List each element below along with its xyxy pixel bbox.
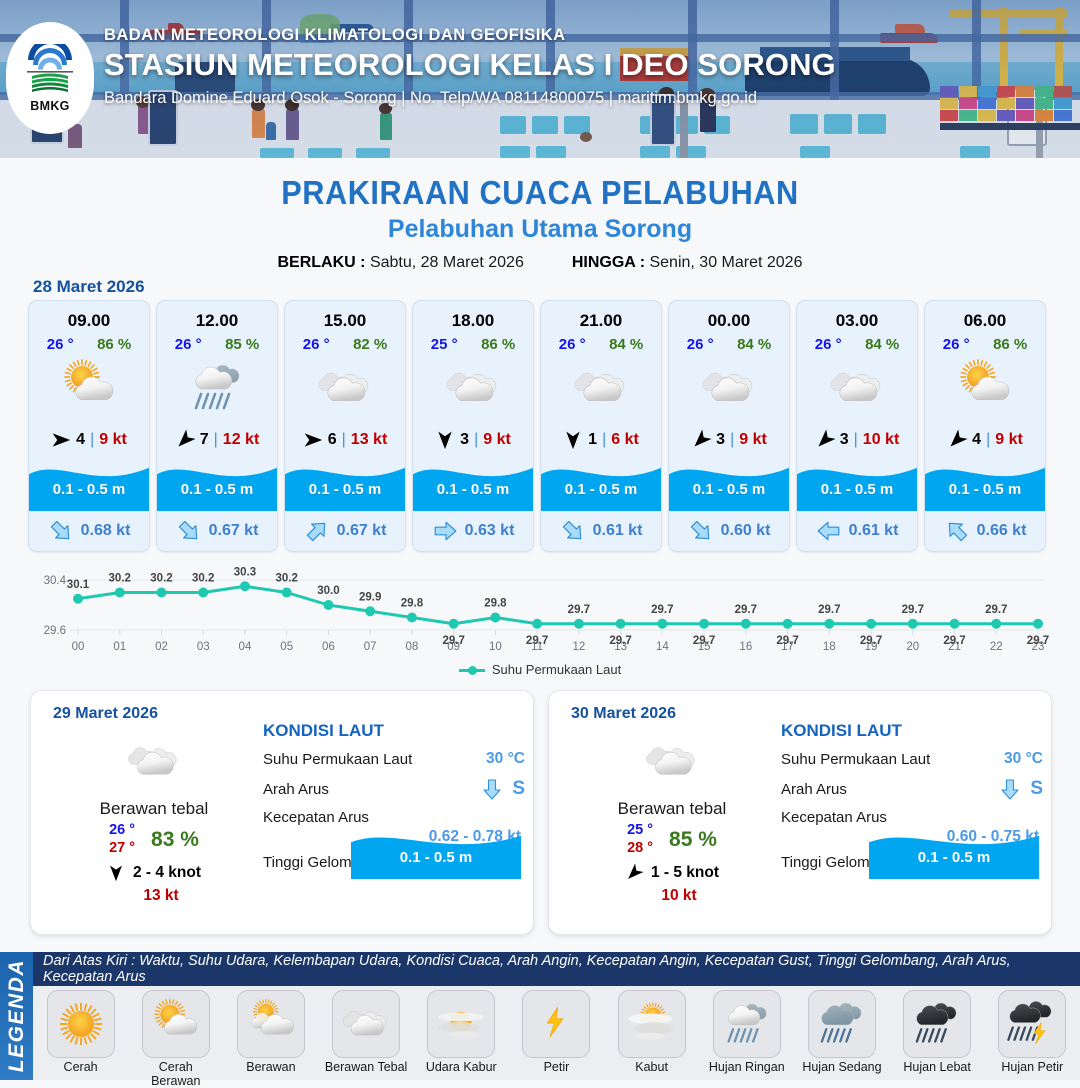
- card-wave: 0.1 - 0.5 m: [413, 457, 533, 511]
- svg-text:16: 16: [739, 641, 752, 653]
- svg-text:29.7: 29.7: [943, 635, 965, 647]
- card-temperature: 26 °: [943, 336, 970, 353]
- panel-current-dir-value: S: [1030, 778, 1043, 800]
- forecast-card[interactable]: 15.00 26 ° 82 % 6 | 13 kt: [284, 300, 406, 552]
- panel-weather-block: Berawan tebal 26 ° 27 ° 83 % 2 - 4 knot …: [47, 733, 261, 905]
- panel-current-dir-value: S: [512, 778, 525, 800]
- panel-sst-value: 30 °C: [1004, 750, 1043, 768]
- card-humidity: 85 %: [225, 336, 259, 353]
- panel-temp-max: 27 °: [109, 840, 135, 858]
- weather-icon-hujan-lebat: [909, 996, 965, 1052]
- weather-icon-petir: [528, 996, 584, 1052]
- card-time: 15.00: [285, 301, 405, 331]
- card-gust: 10 kt: [863, 431, 899, 449]
- current-direction-arrow: [682, 513, 719, 550]
- svg-text:29.7: 29.7: [568, 604, 590, 616]
- panel-current-speed-label: Kecepatan Arus: [781, 809, 1043, 826]
- card-wind-speed: 3: [460, 431, 469, 449]
- contact-info: Bandara Domine Eduard Osok - Sorong | No…: [104, 89, 1064, 108]
- card-current: 0.66 kt: [925, 511, 1045, 551]
- svg-text:29.8: 29.8: [401, 598, 424, 610]
- card-wind: 1 | 6 kt: [541, 423, 661, 457]
- panel-temp-max: 28 °: [627, 840, 653, 858]
- weather-icon-udara-kabur: [433, 996, 489, 1052]
- panel-wind: 2 - 4 knot: [47, 864, 261, 882]
- legend-item-icon: [237, 990, 305, 1058]
- card-wind-separator: |: [474, 431, 478, 449]
- legend-item-label: Udara Kabur: [419, 1060, 503, 1074]
- weather-icon-berawan-tebal: [697, 356, 761, 420]
- svg-text:06: 06: [322, 641, 335, 653]
- legend-item-label: Petir: [514, 1060, 598, 1074]
- card-wind-speed: 3: [840, 431, 849, 449]
- panel-temp-hum: 26 ° 27 ° 83 %: [47, 822, 261, 857]
- bmkg-logo: BMKG: [6, 22, 94, 134]
- wind-direction-arrow: [171, 426, 199, 454]
- panel-sst-row: Suhu Permukaan Laut 30 °C: [781, 750, 1043, 768]
- card-wind-speed: 7: [200, 431, 209, 449]
- page-title: PRAKIRAAN CUACA PELABUHAN: [38, 174, 1042, 212]
- legend-item: Kabut: [610, 990, 694, 1074]
- card-temp-humidity: 25 ° 86 %: [413, 331, 533, 353]
- card-wind: 6 | 13 kt: [285, 423, 405, 457]
- forecast-card[interactable]: 21.00 26 ° 84 % 1 | 6 kt: [540, 300, 662, 552]
- card-wave: 0.1 - 0.5 m: [285, 457, 405, 511]
- panel-current-dir-value-wrap: S: [998, 777, 1043, 801]
- panel-wind-range: 1 - 5 knot: [651, 864, 719, 882]
- forecast-card[interactable]: 18.00 25 ° 86 % 3 | 9 kt: [412, 300, 534, 552]
- card-gust: 6 kt: [611, 431, 639, 449]
- card-humidity: 84 %: [609, 336, 643, 353]
- legend-item-icon: [618, 990, 686, 1058]
- panel-gust: 10 kt: [565, 887, 779, 905]
- card-weather-icon: [925, 353, 1045, 423]
- card-wave: 0.1 - 0.5 m: [669, 457, 789, 511]
- card-wave-height: 0.1 - 0.5 m: [669, 481, 789, 498]
- panel-current-dir-label: Arah Arus: [781, 781, 847, 798]
- card-time: 03.00: [797, 301, 917, 331]
- weather-icon-cerah: [53, 996, 109, 1052]
- panel-wind: 1 - 5 knot: [565, 864, 779, 882]
- card-time: 18.00: [413, 301, 533, 331]
- card-wind-separator: |: [986, 431, 990, 449]
- panel-sst-value: 30 °C: [486, 750, 525, 768]
- legend-item-icon: [998, 990, 1066, 1058]
- card-wind-speed: 3: [716, 431, 725, 449]
- wind-direction-arrow: [563, 430, 583, 450]
- valid-to: HINGGA : Senin, 30 Maret 2026: [572, 254, 803, 272]
- current-direction-arrow: [42, 513, 79, 550]
- card-gust: 12 kt: [223, 431, 259, 449]
- card-wind: 3 | 9 kt: [669, 423, 789, 457]
- card-current-speed: 0.63 kt: [465, 522, 515, 540]
- card-current: 0.67 kt: [157, 511, 277, 551]
- svg-text:29.7: 29.7: [818, 604, 840, 616]
- panel-condition: Berawan tebal: [47, 799, 261, 819]
- weather-icon-hujan-sedang: [814, 996, 870, 1052]
- card-weather-icon: [157, 353, 277, 423]
- card-temperature: 26 °: [687, 336, 714, 353]
- card-current-speed: 0.60 kt: [721, 522, 771, 540]
- svg-text:29.6: 29.6: [44, 625, 66, 637]
- card-humidity: 84 %: [737, 336, 771, 353]
- card-wave-height: 0.1 - 0.5 m: [413, 481, 533, 498]
- card-wave: 0.1 - 0.5 m: [29, 457, 149, 511]
- card-wind-separator: |: [602, 431, 606, 449]
- card-humidity: 86 %: [481, 336, 515, 353]
- panel-current-dir-label: Arah Arus: [263, 781, 329, 798]
- card-temperature: 26 °: [559, 336, 586, 353]
- card-time: 12.00: [157, 301, 277, 331]
- weather-icon-cerah-berawan: [57, 356, 121, 420]
- card-current: 0.68 kt: [29, 511, 149, 551]
- svg-text:30.2: 30.2: [276, 573, 298, 585]
- card-wave-height: 0.1 - 0.5 m: [157, 481, 277, 498]
- daily-summary-panels: 29 Maret 2026 Berawan tebal 26 ° 27 ° 8: [30, 690, 1052, 935]
- card-wind: 4 | 9 kt: [29, 423, 149, 457]
- svg-text:29.7: 29.7: [651, 604, 673, 616]
- legend-item-label: Hujan Petir: [990, 1060, 1074, 1074]
- weather-icon-berawan-tebal: [641, 731, 703, 793]
- panel-date: 30 Maret 2026: [571, 705, 676, 723]
- weather-icon-berawan-tebal: [825, 356, 889, 420]
- card-temperature: 26 °: [175, 336, 202, 353]
- card-current-speed: 0.66 kt: [977, 522, 1027, 540]
- forecast-card[interactable]: 12.00 26 ° 85 % 7 | 12 kt: [156, 300, 278, 552]
- wind-direction-arrow: [943, 426, 971, 454]
- svg-text:29.7: 29.7: [442, 635, 464, 647]
- card-wave: 0.1 - 0.5 m: [925, 457, 1045, 511]
- card-wind-speed: 4: [76, 431, 85, 449]
- legend-item-icon: [713, 990, 781, 1058]
- card-current-speed: 0.67 kt: [337, 522, 387, 540]
- panel-current-dir-value-wrap: S: [480, 777, 525, 801]
- chart-legend-label: Suhu Permukaan Laut: [492, 662, 621, 677]
- legend-item: Petir: [514, 990, 598, 1074]
- card-temp-humidity: 26 ° 85 %: [157, 331, 277, 353]
- weather-icon-berawan-tebal: [123, 731, 185, 793]
- svg-text:07: 07: [364, 641, 377, 653]
- card-gust: 9 kt: [739, 431, 767, 449]
- valid-from-label: BERLAKU :: [278, 254, 366, 271]
- weather-icon-berawan-tebal: [338, 996, 394, 1052]
- legend-item: Cerah Berawan: [134, 990, 218, 1088]
- card-wind-speed: 6: [328, 431, 337, 449]
- card-wave: 0.1 - 0.5 m: [157, 457, 277, 511]
- card-temp-humidity: 26 ° 86 %: [29, 331, 149, 353]
- card-weather-icon: [29, 353, 149, 423]
- card-current-speed: 0.67 kt: [209, 522, 259, 540]
- card-wave-height: 0.1 - 0.5 m: [925, 481, 1045, 498]
- card-wave-height: 0.1 - 0.5 m: [541, 481, 661, 498]
- legend-item-icon: [808, 990, 876, 1058]
- panel-wave: 0.1 - 0.5 m: [869, 825, 1039, 877]
- svg-text:30.1: 30.1: [67, 579, 90, 591]
- card-temp-humidity: 26 ° 84 %: [541, 331, 661, 353]
- panel-weather-icon: [565, 733, 779, 791]
- panel-weather-icon: [47, 733, 261, 791]
- svg-text:29.7: 29.7: [609, 635, 631, 647]
- current-direction-arrow: [816, 518, 842, 544]
- svg-text:01: 01: [113, 641, 126, 653]
- card-temp-humidity: 26 ° 82 %: [285, 331, 405, 353]
- weather-icon-berawan-tebal: [313, 356, 377, 420]
- panel-temp-min: 25 °: [627, 822, 653, 840]
- svg-text:29.7: 29.7: [735, 604, 757, 616]
- card-weather-icon: [797, 353, 917, 423]
- legend-item: Hujan Lebat: [895, 990, 979, 1074]
- svg-text:03: 03: [197, 641, 210, 653]
- panel-current-dir-row: Arah Arus S: [263, 777, 525, 801]
- card-time: 06.00: [925, 301, 1045, 331]
- legend-item: Hujan Sedang: [800, 990, 884, 1074]
- card-wind-speed: 1: [588, 431, 597, 449]
- svg-text:02: 02: [155, 641, 168, 653]
- card-current: 0.63 kt: [413, 511, 533, 551]
- panel-date: 29 Maret 2026: [53, 705, 158, 723]
- panel-temp-hum: 25 ° 28 ° 85 %: [565, 822, 779, 857]
- svg-text:20: 20: [906, 641, 919, 653]
- card-wind: 7 | 12 kt: [157, 423, 277, 457]
- panel-sst-label: Suhu Permukaan Laut: [263, 751, 412, 768]
- legend-item-label: Kabut: [610, 1060, 694, 1074]
- legend-item-label: Berawan Tebal: [324, 1060, 408, 1074]
- legend-item: Udara Kabur: [419, 990, 503, 1074]
- card-temp-humidity: 26 ° 86 %: [925, 331, 1045, 353]
- svg-text:00: 00: [72, 641, 85, 653]
- card-time: 21.00: [541, 301, 661, 331]
- bmkg-logo-mark: [22, 44, 78, 96]
- panel-humidity: 85 %: [669, 828, 717, 852]
- forecast-card[interactable]: 00.00 26 ° 84 % 3 | 9 kt: [668, 300, 790, 552]
- weather-icon-cerah-berawan: [953, 356, 1017, 420]
- svg-text:29.7: 29.7: [860, 635, 882, 647]
- legend-item-label: Cerah: [39, 1060, 123, 1074]
- card-wind-separator: |: [214, 431, 218, 449]
- panel-humidity: 83 %: [151, 828, 199, 852]
- legend-item-label: Hujan Sedang: [800, 1060, 884, 1074]
- wind-direction-arrow: [107, 864, 125, 882]
- forecast-card[interactable]: 06.00 26 ° 86 % 4 | 9 kt 0.1 -: [924, 300, 1046, 552]
- svg-text:29.7: 29.7: [776, 635, 798, 647]
- card-temp-humidity: 26 ° 84 %: [669, 331, 789, 353]
- current-direction-arrow: [998, 777, 1022, 801]
- weather-icon-berawan: [243, 996, 299, 1052]
- forecast-card[interactable]: 09.00 26 ° 86 % 4 | 9 kt 0.1 -: [28, 300, 150, 552]
- svg-text:30.3: 30.3: [234, 566, 256, 578]
- panel-current-speed-label: Kecepatan Arus: [263, 809, 525, 826]
- forecast-date-label: 28 Maret 2026: [33, 277, 145, 297]
- legend-item-icon: [332, 990, 400, 1058]
- card-time: 00.00: [669, 301, 789, 331]
- card-current: 0.67 kt: [285, 511, 405, 551]
- daily-summary-panel: 29 Maret 2026 Berawan tebal 26 ° 27 ° 8: [30, 690, 534, 935]
- card-weather-icon: [413, 353, 533, 423]
- card-humidity: 86 %: [993, 336, 1027, 353]
- legend-item: Berawan Tebal: [324, 990, 408, 1074]
- svg-text:30.2: 30.2: [109, 573, 131, 585]
- panel-sst-label: Suhu Permukaan Laut: [781, 751, 930, 768]
- card-wind-separator: |: [854, 431, 858, 449]
- card-current-speed: 0.68 kt: [81, 522, 131, 540]
- card-humidity: 86 %: [97, 336, 131, 353]
- svg-text:12: 12: [572, 641, 585, 653]
- svg-text:10: 10: [489, 641, 502, 653]
- svg-text:29.7: 29.7: [526, 635, 548, 647]
- agency-name: BADAN METEOROLOGI KLIMATOLOGI DAN GEOFIS…: [104, 26, 1064, 45]
- legend-item: Hujan Petir: [990, 990, 1074, 1074]
- svg-text:05: 05: [280, 641, 293, 653]
- svg-text:30.0: 30.0: [317, 585, 339, 597]
- svg-text:14: 14: [656, 641, 669, 653]
- card-wave-height: 0.1 - 0.5 m: [285, 481, 405, 498]
- station-name: STASIUN METEOROLOGI KELAS I DEO SORONG: [104, 47, 1064, 83]
- title-block: PRAKIRAAN CUACA PELABUHAN Pelabuhan Utam…: [0, 174, 1080, 272]
- logo-label: BMKG: [30, 99, 69, 113]
- weather-icon-berawan-tebal: [569, 356, 633, 420]
- card-humidity: 84 %: [865, 336, 899, 353]
- daily-summary-panel: 30 Maret 2026 Berawan tebal 25 ° 28 ° 8: [548, 690, 1052, 935]
- card-gust: 13 kt: [351, 431, 387, 449]
- legend-item-icon: [427, 990, 495, 1058]
- legend-item: Berawan: [229, 990, 313, 1074]
- svg-text:30.2: 30.2: [192, 573, 214, 585]
- forecast-card[interactable]: 03.00 26 ° 84 % 3 | 10 kt: [796, 300, 918, 552]
- card-current-speed: 0.61 kt: [593, 522, 643, 540]
- panel-condition: Berawan tebal: [565, 799, 779, 819]
- chart-legend: Suhu Permukaan Laut: [0, 662, 1080, 677]
- panel-sea-block: KONDISI LAUT Suhu Permukaan Laut 30 °C A…: [781, 721, 1043, 871]
- wind-direction-arrow: [51, 430, 71, 450]
- card-wind: 3 | 9 kt: [413, 423, 533, 457]
- svg-text:29.7: 29.7: [902, 604, 924, 616]
- card-wind-separator: |: [730, 431, 734, 449]
- panel-weather-block: Berawan tebal 25 ° 28 ° 85 % 1 - 5 knot …: [565, 733, 779, 905]
- legend-item-icon: [47, 990, 115, 1058]
- card-temperature: 26 °: [47, 336, 74, 353]
- svg-text:29.8: 29.8: [484, 598, 507, 610]
- card-gust: 9 kt: [99, 431, 127, 449]
- card-current-speed: 0.61 kt: [849, 522, 899, 540]
- panel-sea-block: KONDISI LAUT Suhu Permukaan Laut 30 °C A…: [263, 721, 525, 871]
- wind-direction-arrow: [687, 426, 715, 454]
- weather-icon-hujan-ringan: [185, 356, 249, 420]
- panel-temps: 26 ° 27 °: [109, 822, 135, 857]
- card-humidity: 82 %: [353, 336, 387, 353]
- legend-item: Hujan Ringan: [705, 990, 789, 1074]
- current-direction-arrow: [170, 513, 207, 550]
- legend-note: Dari Atas Kiri : Waktu, Suhu Udara, Kele…: [43, 953, 1080, 985]
- current-direction-arrow: [432, 518, 458, 544]
- weather-icon-hujan-ringan: [719, 996, 775, 1052]
- weather-icon-hujan-petir: [1004, 996, 1060, 1052]
- current-direction-arrow: [480, 777, 504, 801]
- svg-text:22: 22: [990, 641, 1003, 653]
- panel-temp-min: 26 °: [109, 822, 135, 840]
- svg-text:29.9: 29.9: [359, 591, 381, 603]
- legend-item-icon: [522, 990, 590, 1058]
- wind-direction-arrow: [811, 426, 839, 454]
- legend-section: LEGENDA Dari Atas Kiri : Waktu, Suhu Uda…: [0, 952, 1080, 1080]
- card-wind-separator: |: [342, 431, 346, 449]
- panel-wave: 0.1 - 0.5 m: [351, 825, 521, 877]
- legend-item: Cerah: [39, 990, 123, 1074]
- card-current: 0.60 kt: [669, 511, 789, 551]
- card-wind: 3 | 10 kt: [797, 423, 917, 457]
- panel-gust: 13 kt: [47, 887, 261, 905]
- panel-current-dir-row: Arah Arus S: [781, 777, 1043, 801]
- valid-from: BERLAKU : Sabtu, 28 Maret 2026: [278, 254, 524, 272]
- wind-direction-arrow: [435, 430, 455, 450]
- panel-wave-value: 0.1 - 0.5 m: [869, 849, 1039, 866]
- legend-item-label: Hujan Ringan: [705, 1060, 789, 1074]
- card-current: 0.61 kt: [541, 511, 661, 551]
- svg-text:30.4: 30.4: [44, 575, 67, 587]
- legend-item-icon: [142, 990, 210, 1058]
- forecast-card-row: 09.00 26 ° 86 % 4 | 9 kt 0.1 -: [28, 300, 1052, 552]
- legend-icon-row: Cerah Cerah Berawan: [33, 986, 1080, 1080]
- page-subtitle: Pelabuhan Utama Sorong: [0, 215, 1080, 244]
- panel-temps: 25 ° 28 °: [627, 822, 653, 857]
- wind-direction-arrow: [303, 430, 323, 450]
- svg-text:29.7: 29.7: [985, 604, 1007, 616]
- card-gust: 9 kt: [995, 431, 1023, 449]
- panel-sea-title: KONDISI LAUT: [781, 721, 1043, 741]
- svg-text:08: 08: [406, 641, 419, 653]
- legend-note-bar: Dari Atas Kiri : Waktu, Suhu Udara, Kele…: [33, 952, 1080, 986]
- card-gust: 9 kt: [483, 431, 511, 449]
- svg-text:29.7: 29.7: [1027, 635, 1049, 647]
- weather-icon-berawan-tebal: [441, 356, 505, 420]
- svg-text:29.7: 29.7: [693, 635, 715, 647]
- legend-side-text: LEGENDA: [5, 959, 29, 1072]
- card-weather-icon: [669, 353, 789, 423]
- card-weather-icon: [285, 353, 405, 423]
- card-wave-height: 0.1 - 0.5 m: [797, 481, 917, 498]
- svg-text:04: 04: [239, 641, 252, 653]
- valid-to-value: Senin, 30 Maret 2026: [649, 254, 802, 271]
- card-temperature: 25 °: [431, 336, 458, 353]
- card-wave: 0.1 - 0.5 m: [797, 457, 917, 511]
- card-wind-speed: 4: [972, 431, 981, 449]
- card-current: 0.61 kt: [797, 511, 917, 551]
- card-wind: 4 | 9 kt: [925, 423, 1045, 457]
- validity-row: BERLAKU : Sabtu, 28 Maret 2026 HINGGA : …: [0, 254, 1080, 272]
- card-temperature: 26 °: [815, 336, 842, 353]
- current-direction-arrow: [554, 513, 591, 550]
- panel-sea-title: KONDISI LAUT: [263, 721, 525, 741]
- card-wind-separator: |: [90, 431, 94, 449]
- card-temperature: 26 °: [303, 336, 330, 353]
- weather-icon-kabut: [624, 996, 680, 1052]
- legend-item-label: Hujan Lebat: [895, 1060, 979, 1074]
- current-direction-arrow: [938, 513, 975, 550]
- panel-sst-row: Suhu Permukaan Laut 30 °C: [263, 750, 525, 768]
- card-wave: 0.1 - 0.5 m: [541, 457, 661, 511]
- card-weather-icon: [541, 353, 661, 423]
- panel-wave-value: 0.1 - 0.5 m: [351, 849, 521, 866]
- svg-text:30.2: 30.2: [150, 573, 172, 585]
- valid-to-label: HINGGA :: [572, 254, 645, 271]
- legend-side-label: LEGENDA: [0, 952, 33, 1080]
- chart-legend-marker: [459, 669, 485, 672]
- legend-item-icon: [903, 990, 971, 1058]
- legend-item-label: Berawan: [229, 1060, 313, 1074]
- wind-direction-arrow: [621, 861, 646, 886]
- svg-text:18: 18: [823, 641, 836, 653]
- card-temp-humidity: 26 ° 84 %: [797, 331, 917, 353]
- valid-from-value: Sabtu, 28 Maret 2026: [370, 254, 524, 271]
